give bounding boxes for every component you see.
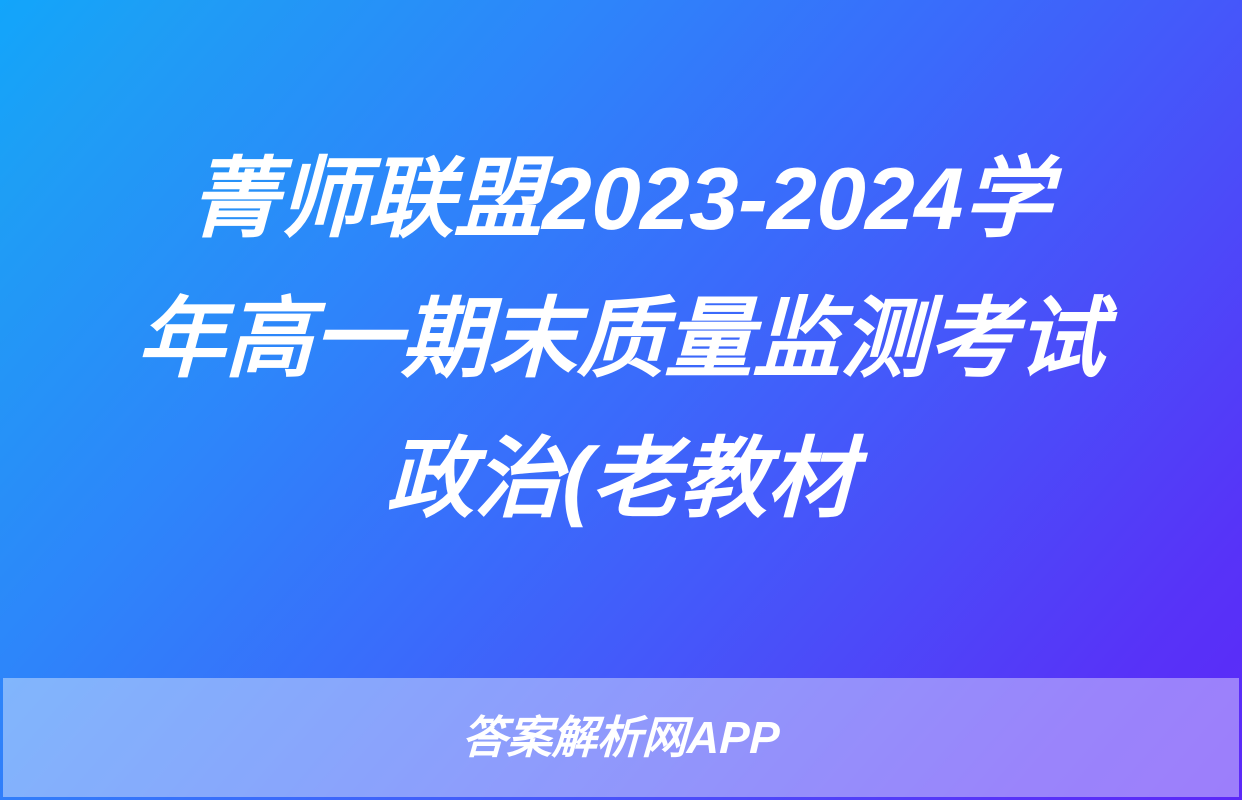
exam-title-line-3: 政治(老教材 [69, 409, 1173, 549]
exam-title-line-2: 年高一期末质量监测考试 [69, 269, 1173, 409]
exam-paper-cover-poster: 菁师联盟2023-2024学 年高一期末质量监测考试 政治(老教材 答案解析网A… [0, 0, 1242, 800]
watermark-band: 答案解析网APP [3, 678, 1239, 797]
exam-title-line-1: 菁师联盟2023-2024学 [69, 129, 1173, 269]
watermark-app-label: 答案解析网APP [461, 715, 780, 760]
exam-title-block: 菁师联盟2023-2024学 年高一期末质量监测考试 政治(老教材 [0, 0, 1242, 678]
